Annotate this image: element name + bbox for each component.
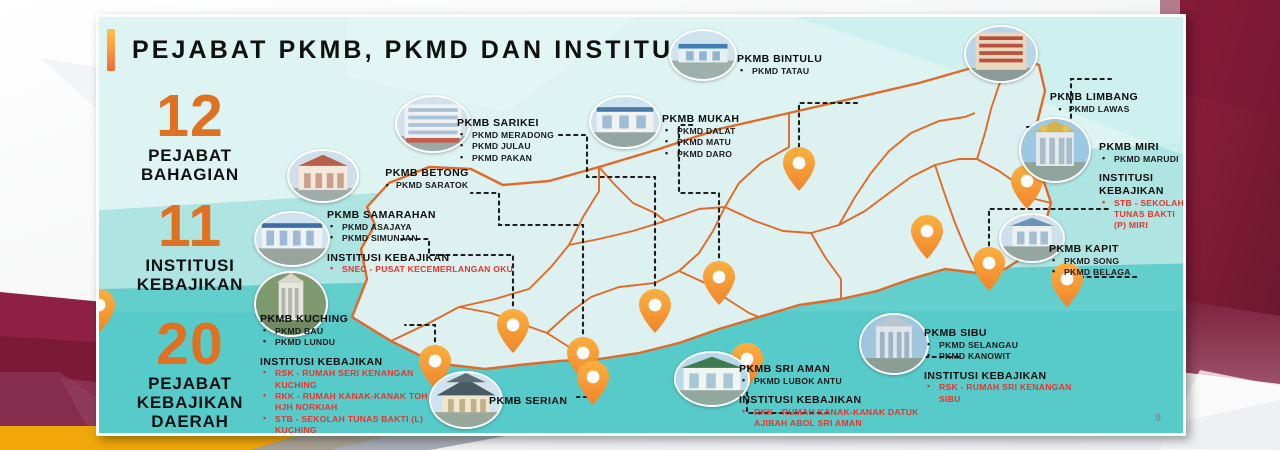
label-list-item: PKMD BELAGA [1049,267,1131,278]
label-items: PKMD SONGPKMD BELAGA [1049,256,1131,279]
label-sub-items: STB - SEKOLAH TUNAS BAKTI (P) MIRI [1099,198,1186,232]
label-list-item: PKMD SARATOK [347,180,507,192]
label-sub-head: INSTITUSI KEBAJIKAN [327,252,557,265]
label-list-item: PKMD SONG [1049,256,1131,267]
label-head: PKMB SIBU [924,327,1094,340]
label-sub-head: INSTITUSI KEBAJIKAN [1099,172,1186,197]
label-list-item: PKMD DALAT [662,126,739,137]
stat-pejabat-kebajikan-daerah: 20 PEJABAT KEBAJIKAN DAERAH [115,317,265,431]
stat-label-line1: PEJABAT [115,374,265,393]
photo-miri-image [1021,119,1089,181]
label-list-item: PKMD KANOWIT [924,351,1094,362]
label-items: PKMD LAWAS [1009,104,1179,116]
label-head: PKMB MUKAH [662,113,739,126]
label-kapit: PKMB KAPIT PKMD SONGPKMD BELAGA [1049,243,1131,279]
label-list-item: PKMD MARUDI [1099,154,1186,165]
stat-label-line2: BAHAGIAN [115,165,265,184]
stat-label: INSTITUSI KEBAJIKAN [115,256,265,294]
label-sibu: PKMB SIBU PKMD SELANGAUPKMD KANOWIT INST… [924,327,1094,405]
label-head: PKMB BETONG [347,167,507,180]
photo-miri[interactable] [1019,117,1091,183]
label-list-item: PKMD SIMUNJAN [327,233,557,244]
label-head: PKMB SAMARAHAN [327,209,557,222]
map-pin-miri[interactable] [973,247,1005,291]
slide-title-row: PEJABAT PKMB, PKMD DAN INSTITUSI [107,29,703,71]
label-list-item: SNEC - PUSAT KECEMERLANGAN OKU [327,264,557,275]
label-head: PKMB KAPIT [1049,243,1131,256]
label-list-item: PKMD ASAJAYA [327,222,557,233]
label-items: PKMD BAUPKMD LUNDU [260,326,440,349]
stat-number: 11 [115,199,265,253]
stat-label: PEJABAT BAHAGIAN [115,146,265,184]
map-pin-serian[interactable] [577,361,609,405]
label-miri: PKMB MIRI PKMD MARUDI INSTITUSI KEBAJIKA… [1099,141,1186,232]
label-items: PKMD LUBOK ANTU [739,376,929,387]
label-sub-head: INSTITUSI KEBAJIKAN [739,394,929,407]
photo-sri-aman-image [676,353,748,405]
label-head: PKMB KUCHING [260,313,440,326]
label-list-item: PKMD PAKAN [457,153,554,164]
stat-pejabat-bahagian: 12 PEJABAT BAHAGIAN [115,89,265,184]
photo-limbang-image [966,27,1036,81]
label-list-item: STB - SEKOLAH TUNAS BAKTI (L) KUCHING [260,414,440,436]
label-list-item: PKMD JULAU [457,141,554,152]
label-limbang: PKMB LIMBANG PKMD LAWAS [1009,91,1179,116]
photo-mukah[interactable] [589,95,661,149]
page-title: PEJABAT PKMB, PKMD DAN INSTITUSI [132,36,703,65]
label-list-item: PKMD MERADONG [457,130,554,141]
label-sub-items: RSK - RUMAH SRI KENANGAN SIBU [924,382,1094,405]
label-items: PKMD MARUDI [1099,154,1186,165]
label-serian: PKMB SERIAN [489,395,567,408]
label-samarahan: PKMB SAMARAHAN PKMD ASAJAYAPKMD SIMUNJAN… [327,209,557,276]
label-list-item: PKMD BAU [260,326,440,337]
label-bintulu: PKMB BINTULU PKMD TATAU [737,53,822,77]
photo-mukah-image [591,97,659,147]
label-items: PKMD DALATPKMD MATUPKMD DARO [662,126,739,160]
label-list-item: PKMD MATU [662,137,739,148]
slide-card: PEJABAT PKMB, PKMD DAN INSTITUSI 12 PEJA… [96,14,1186,436]
label-list-item: PKMD DARO [662,149,739,160]
stat-label-line3: DAERAH [115,412,265,431]
label-head: PKMB SRI AMAN [739,363,929,376]
photo-samarahan[interactable] [254,211,330,267]
label-list-item: STB - SEKOLAH TUNAS BAKTI (P) MIRI [1099,198,1186,232]
label-head: PKMB LIMBANG [1009,91,1179,104]
label-sub-items: RSK - RUMAH SERI KENANGAN KUCHINGRKK - R… [260,368,440,436]
photo-bintulu[interactable] [669,29,737,81]
label-head: PKMB SARIKEI [457,117,554,130]
label-head: PKMB MIRI [1099,141,1186,154]
label-sarikei: PKMB SARIKEI PKMD MERADONGPKMD JULAUPKMD… [457,117,554,164]
label-list-item: PKMD LAWAS [1009,104,1179,116]
photo-samarahan-image [256,213,328,265]
label-sub-head: INSTITUSI KEBAJIKAN [260,356,440,369]
label-kuching: PKMB KUCHING PKMD BAUPKMD LUNDU INSTITUS… [260,313,440,436]
label-head: PKMB SERIAN [489,395,567,408]
stat-label-line1: INSTITUSI [115,256,265,275]
label-sub-head: INSTITUSI KEBAJIKAN [924,370,1094,383]
stat-label-line2: KEBAJIKAN [115,275,265,294]
map-pin-sarikei[interactable] [99,289,115,333]
label-list-item: RKK - RUMAH KANAK-KANAK TOH HJH NORKIAH [260,391,440,414]
stat-label-line2: KEBAJIKAN [115,393,265,412]
label-list-item: RKK - RUMAH KANAK-KANAK DATUK AJIBAH ABO… [739,407,929,430]
label-head: PKMB BINTULU [737,53,822,66]
stat-label-line1: PEJABAT [115,146,265,165]
label-sri-aman: PKMB SRI AMAN PKMD LUBOK ANTU INSTITUSI … [739,363,929,430]
stat-institusi-kebajikan: 11 INSTITUSI KEBAJIKAN [115,199,265,294]
stat-number: 12 [115,89,265,143]
label-items: PKMD SARATOK [347,180,507,192]
label-items: PKMD MERADONGPKMD JULAUPKMD PAKAN [457,130,554,164]
photo-bintulu-image [671,31,735,79]
label-items: PKMD SELANGAUPKMD KANOWIT [924,340,1094,363]
label-sub-items: RKK - RUMAH KANAK-KANAK DATUK AJIBAH ABO… [739,407,929,430]
label-list-item: PKMD LUNDU [260,337,440,348]
label-sub-items: SNEC - PUSAT KECEMERLANGAN OKU [327,264,557,275]
stat-number: 20 [115,317,265,371]
label-list-item: PKMD TATAU [737,66,822,77]
label-mukah: PKMB MUKAH PKMD DALATPKMD MATUPKMD DARO [662,113,739,160]
page-number: 9 [1155,412,1161,424]
label-list-item: RSK - RUMAH SRI KENANGAN SIBU [924,382,1094,405]
title-accent-bar [107,29,115,71]
label-items: PKMD TATAU [737,66,822,77]
label-list-item: PKMD SELANGAU [924,340,1094,351]
label-items: PKMD ASAJAYAPKMD SIMUNJAN [327,222,557,245]
photo-limbang[interactable] [964,25,1038,83]
label-list-item: PKMD LUBOK ANTU [739,376,929,387]
label-betong: PKMB BETONG PKMD SARATOK [347,167,507,192]
stat-label: PEJABAT KEBAJIKAN DAERAH [115,374,265,431]
label-list-item: RSK - RUMAH SERI KENANGAN KUCHING [260,368,440,391]
